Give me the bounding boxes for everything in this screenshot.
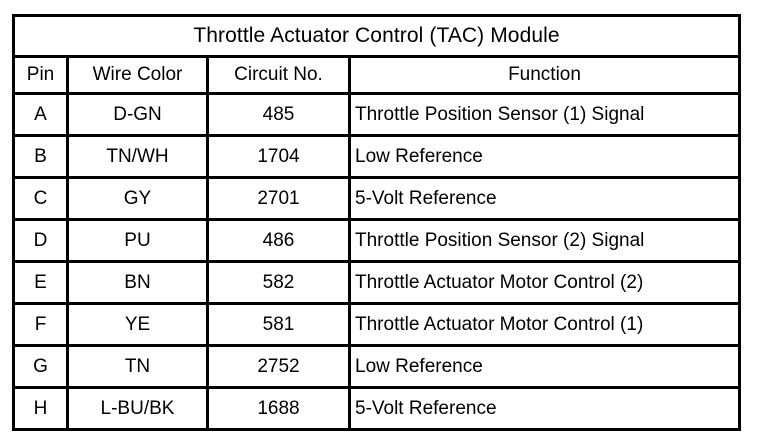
cell-pin: H	[14, 388, 68, 430]
cell-function: Low Reference	[350, 346, 740, 388]
column-header-wire-color: Wire Color	[68, 57, 208, 94]
table-row: AD-GN485Throttle Position Sensor (1) Sig…	[14, 94, 740, 136]
table-row: CGY27015-Volt Reference	[14, 178, 740, 220]
cell-function: 5-Volt Reference	[350, 388, 740, 430]
table-title: Throttle Actuator Control (TAC) Module	[14, 16, 740, 57]
cell-wire-color: GY	[68, 178, 208, 220]
cell-circuit-no: 1704	[208, 136, 350, 178]
table-row: EBN582Throttle Actuator Motor Control (2…	[14, 262, 740, 304]
table-title-row: Throttle Actuator Control (TAC) Module	[14, 16, 740, 57]
cell-pin: A	[14, 94, 68, 136]
table-row: FYE581Throttle Actuator Motor Control (1…	[14, 304, 740, 346]
cell-circuit-no: 582	[208, 262, 350, 304]
cell-function: Low Reference	[350, 136, 740, 178]
cell-wire-color: BN	[68, 262, 208, 304]
cell-pin: E	[14, 262, 68, 304]
column-header-pin: Pin	[14, 57, 68, 94]
cell-function: 5-Volt Reference	[350, 178, 740, 220]
cell-wire-color: YE	[68, 304, 208, 346]
table-column-header-row: Pin Wire Color Circuit No. Function	[14, 57, 740, 94]
table-row: GTN2752Low Reference	[14, 346, 740, 388]
cell-wire-color: D-GN	[68, 94, 208, 136]
column-header-circuit-no: Circuit No.	[208, 57, 350, 94]
cell-wire-color: TN	[68, 346, 208, 388]
cell-wire-color: TN/WH	[68, 136, 208, 178]
cell-pin: F	[14, 304, 68, 346]
cell-wire-color: L-BU/BK	[68, 388, 208, 430]
cell-pin: C	[14, 178, 68, 220]
cell-circuit-no: 581	[208, 304, 350, 346]
cell-wire-color: PU	[68, 220, 208, 262]
cell-pin: B	[14, 136, 68, 178]
table-row: HL-BU/BK16885-Volt Reference	[14, 388, 740, 430]
tac-module-pinout-table: Throttle Actuator Control (TAC) Module P…	[12, 14, 741, 431]
cell-function: Throttle Position Sensor (2) Signal	[350, 220, 740, 262]
cell-circuit-no: 486	[208, 220, 350, 262]
cell-circuit-no: 1688	[208, 388, 350, 430]
pinout-table-container: Throttle Actuator Control (TAC) Module P…	[12, 14, 738, 431]
table-body: AD-GN485Throttle Position Sensor (1) Sig…	[14, 94, 740, 430]
cell-pin: G	[14, 346, 68, 388]
cell-circuit-no: 2752	[208, 346, 350, 388]
cell-function: Throttle Position Sensor (1) Signal	[350, 94, 740, 136]
table-row: DPU486Throttle Position Sensor (2) Signa…	[14, 220, 740, 262]
cell-function: Throttle Actuator Motor Control (2)	[350, 262, 740, 304]
cell-circuit-no: 2701	[208, 178, 350, 220]
cell-pin: D	[14, 220, 68, 262]
column-header-function: Function	[350, 57, 740, 94]
table-header: Throttle Actuator Control (TAC) Module P…	[14, 16, 740, 94]
cell-function: Throttle Actuator Motor Control (1)	[350, 304, 740, 346]
cell-circuit-no: 485	[208, 94, 350, 136]
table-row: BTN/WH1704Low Reference	[14, 136, 740, 178]
